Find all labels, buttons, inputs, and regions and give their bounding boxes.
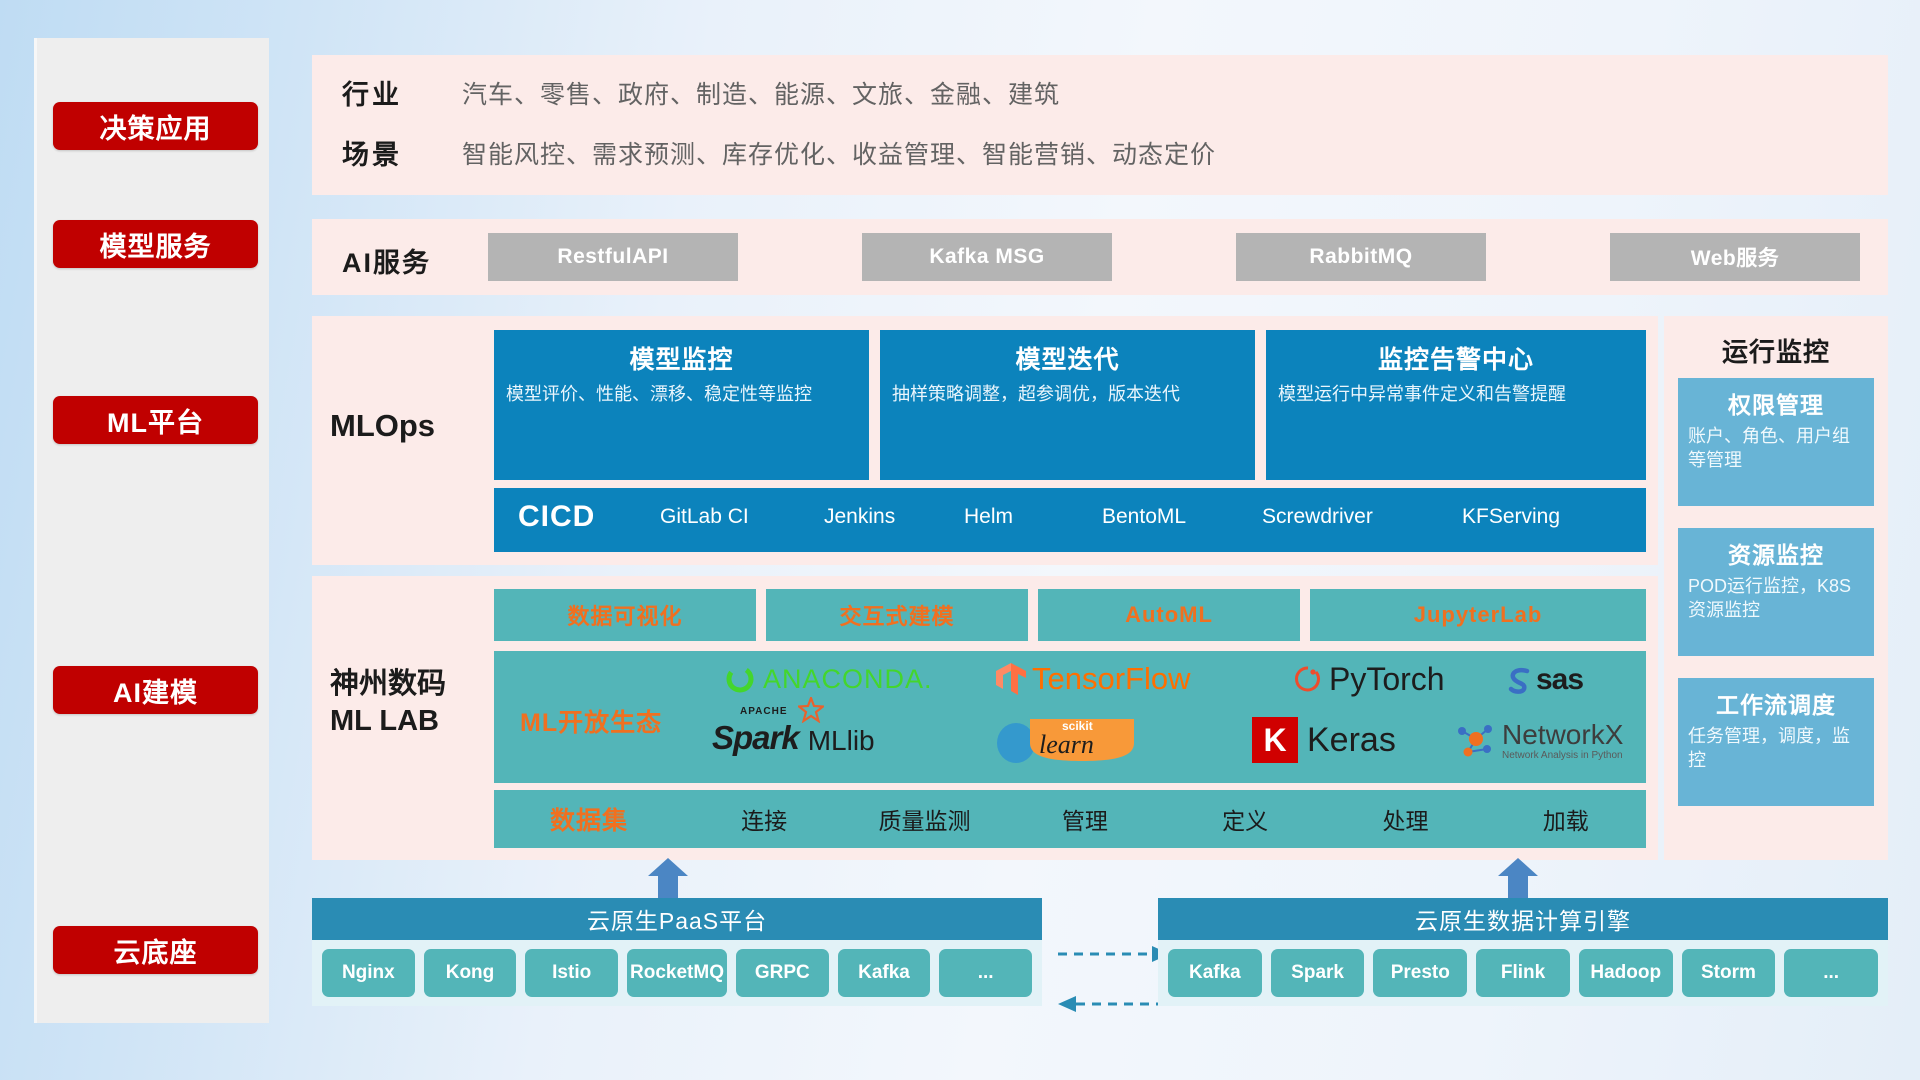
mllab-tab-label: JupyterLab: [1414, 602, 1543, 628]
spark-star-icon: [798, 697, 824, 723]
mllab-tab-interactive-modeling[interactable]: 交互式建模: [766, 589, 1028, 641]
chip-kafka[interactable]: Kafka: [1168, 949, 1262, 997]
mllab-tab-label: AutoML: [1125, 602, 1213, 628]
chip-hadoop[interactable]: Hadoop: [1579, 949, 1673, 997]
ml-ecosystem-bar: ML开放生态 ANACONDA. TensorFlow PyTorch: [494, 651, 1646, 783]
chip-rocketmq[interactable]: RocketMQ: [627, 949, 727, 997]
sidebar-item-ai-modeling[interactable]: AI建模: [53, 666, 258, 714]
monitor-card-title: 工作流调度: [1688, 686, 1864, 720]
cloud-paas-block: 云原生PaaS平台 Nginx Kong Istio RocketMQ GRPC…: [312, 898, 1042, 1006]
cloud-paas-chips: Nginx Kong Istio RocketMQ GRPC Kafka ...: [312, 940, 1042, 1006]
ai-service-item-label: RabbitMQ: [1309, 245, 1412, 269]
ai-service-item-kafka-msg[interactable]: Kafka MSG: [862, 233, 1112, 281]
industry-scenario-panel: 行业 汽车、零售、政府、制造、能源、文旅、金融、建筑 场景 智能风控、需求预测、…: [312, 55, 1888, 195]
chip-nginx[interactable]: Nginx: [322, 949, 415, 997]
ml-lab-label-line2: ML LAB: [330, 703, 446, 740]
runtime-monitoring-title: 运行监控: [1664, 332, 1888, 369]
cicd-item-helm[interactable]: Helm: [964, 504, 1082, 530]
mlops-card-title: 模型监控: [506, 340, 857, 376]
dataset-item-manage[interactable]: 管理: [1005, 802, 1165, 836]
keras-k-label: K: [1263, 722, 1286, 759]
mllab-tab-automl[interactable]: AutoML: [1038, 589, 1300, 641]
bidirectional-dashed-arrows-icon: [1056, 938, 1172, 1022]
sidebar-item-cloud-base[interactable]: 云底座: [53, 926, 258, 974]
ai-service-item-label: Kafka MSG: [929, 245, 1044, 269]
mllab-tab-jupyterlab[interactable]: JupyterLab: [1310, 589, 1646, 641]
monitor-card-title: 权限管理: [1688, 386, 1864, 420]
cicd-item-jenkins[interactable]: Jenkins: [824, 504, 942, 530]
networkx-icon: [1454, 721, 1496, 761]
monitor-card-resource[interactable]: 资源监控 POD运行监控，K8S资源监控: [1678, 528, 1874, 656]
mlops-card-model-iteration[interactable]: 模型迭代 抽样策略调整，超参调优，版本迭代: [880, 330, 1255, 480]
anaconda-icon: [724, 663, 756, 695]
ml-ecosystem-label: ML开放生态: [520, 703, 662, 739]
logo-pytorch: PyTorch: [1294, 661, 1445, 698]
scenario-key: 场景: [342, 133, 462, 172]
networkx-label: NetworkX: [1502, 721, 1623, 749]
mlops-card-desc: 抽样策略调整，超参调优，版本迭代: [892, 382, 1243, 406]
sidebar-item-label: 模型服务: [100, 225, 212, 264]
chip-kong[interactable]: Kong: [424, 949, 517, 997]
ai-service-label: AI服务: [342, 241, 431, 280]
chip-grpc[interactable]: GRPC: [736, 949, 829, 997]
sidebar-item-label: 云底座: [114, 931, 198, 970]
mlops-card-model-monitoring[interactable]: 模型监控 模型评价、性能、漂移、稳定性等监控: [494, 330, 869, 480]
logo-tensorflow: TensorFlow: [994, 661, 1191, 697]
sidebar-item-decision-app[interactable]: 决策应用: [53, 102, 258, 150]
chip-presto[interactable]: Presto: [1373, 949, 1467, 997]
logo-keras: K Keras: [1252, 717, 1396, 763]
mlops-card-desc: 模型评价、性能、漂移、稳定性等监控: [506, 382, 857, 406]
cicd-item-bentoml[interactable]: BentoML: [1102, 504, 1220, 530]
dataset-item-load[interactable]: 加载: [1486, 802, 1646, 836]
cloud-data-engine-chips: Kafka Spark Presto Flink Hadoop Storm ..…: [1158, 940, 1888, 1006]
cloud-paas-title: 云原生PaaS平台: [312, 898, 1042, 940]
sas-icon: [1504, 665, 1534, 695]
cicd-title: CICD: [518, 500, 595, 534]
ml-lab-section-label: 神州数码 ML LAB: [330, 666, 446, 740]
sidebar-item-ml-platform[interactable]: ML平台: [53, 396, 258, 444]
runtime-monitoring-panel: 运行监控 权限管理 账户、角色、用户组等管理 资源监控 POD运行监控，K8S资…: [1664, 316, 1888, 860]
cicd-item-kfserving[interactable]: KFServing: [1462, 504, 1580, 530]
logo-spark-mllib: APACHE Spark MLlib: [712, 719, 875, 757]
cloud-data-engine-block: 云原生数据计算引擎 Kafka Spark Presto Flink Hadoo…: [1158, 898, 1888, 1006]
mllab-tab-data-visualization[interactable]: 数据可视化: [494, 589, 756, 641]
monitor-card-desc: 任务管理，调度，监控: [1688, 725, 1864, 773]
dataset-item-process[interactable]: 处理: [1325, 802, 1485, 836]
ai-service-item-label: RestfulAPI: [557, 245, 668, 269]
pytorch-label: PyTorch: [1329, 661, 1445, 698]
spark-apache-label: APACHE: [740, 706, 787, 717]
sas-label: sas: [1536, 663, 1583, 697]
chip-storm[interactable]: Storm: [1682, 949, 1776, 997]
mllab-tab-label: 数据可视化: [567, 599, 682, 631]
ml-lab-label-line1: 神州数码: [330, 666, 446, 703]
spark-label: Spark: [712, 719, 799, 756]
mllib-label: MLlib: [808, 725, 875, 757]
logo-anaconda: ANACONDA.: [724, 663, 933, 695]
industry-row: 行业 汽车、零售、政府、制造、能源、文旅、金融、建筑: [342, 73, 1060, 112]
logo-sas: sas: [1504, 663, 1583, 697]
chip-more[interactable]: ...: [939, 949, 1032, 997]
dataset-title: 数据集: [494, 801, 684, 837]
ai-service-panel: AI服务 RestfulAPI Kafka MSG RabbitMQ Web服务: [312, 219, 1888, 295]
up-arrow-data-engine-icon: [1498, 858, 1538, 900]
mlops-card-title: 模型迭代: [892, 340, 1243, 376]
networkx-sublabel: Network Analysis in Python: [1502, 751, 1623, 761]
sidebar-item-label: ML平台: [107, 401, 204, 440]
keras-icon: K: [1252, 717, 1298, 763]
scenario-value: 智能风控、需求预测、库存优化、收益管理、智能营销、动态定价: [462, 135, 1216, 171]
chip-flink[interactable]: Flink: [1476, 949, 1570, 997]
monitor-card-permission[interactable]: 权限管理 账户、角色、用户组等管理: [1678, 378, 1874, 506]
dataset-item-quality[interactable]: 质量监测: [844, 802, 1004, 836]
chip-more[interactable]: ...: [1784, 949, 1878, 997]
up-arrow-paas-icon: [648, 858, 688, 900]
chip-kafka[interactable]: Kafka: [838, 949, 931, 997]
scenario-row: 场景 智能风控、需求预测、库存优化、收益管理、智能营销、动态定价: [342, 133, 1216, 172]
logo-scikit-learn: scikit learn: [994, 717, 1138, 768]
monitor-card-workflow[interactable]: 工作流调度 任务管理，调度，监控: [1678, 678, 1874, 806]
tensorflow-icon: [994, 661, 1028, 697]
mlops-card-alert-center[interactable]: 监控告警中心 模型运行中异常事件定义和告警提醒: [1266, 330, 1646, 480]
logo-networkx: NetworkX Network Analysis in Python: [1454, 721, 1623, 761]
anaconda-label: ANACONDA.: [763, 664, 933, 695]
monitor-card-title: 资源监控: [1688, 536, 1864, 570]
pytorch-icon: [1294, 664, 1322, 696]
ml-lab-panel: 数据可视化 交互式建模 AutoML JupyterLab ML开放生态 ANA…: [312, 576, 1658, 860]
ai-service-item-label: Web服务: [1691, 242, 1779, 272]
cloud-data-engine-title: 云原生数据计算引擎: [1158, 898, 1888, 940]
monitor-card-desc: POD运行监控，K8S资源监控: [1688, 575, 1864, 623]
mllab-tab-label: 交互式建模: [839, 599, 954, 631]
mlops-section-label: MLOps: [330, 408, 435, 444]
dataset-bar: 数据集 连接 质量监测 管理 定义 处理 加载: [494, 790, 1646, 848]
cicd-item-gitlab-ci[interactable]: GitLab CI: [660, 504, 778, 530]
dataset-item-connect[interactable]: 连接: [684, 802, 844, 836]
ai-service-item-web-service[interactable]: Web服务: [1610, 233, 1860, 281]
sidebar-item-model-service[interactable]: 模型服务: [53, 220, 258, 268]
layer-rail: 决策应用 模型服务 ML平台 AI建模 云底座: [34, 38, 269, 1023]
mlops-card-desc: 模型运行中异常事件定义和告警提醒: [1278, 382, 1634, 406]
dataset-item-define[interactable]: 定义: [1165, 802, 1325, 836]
learn-label: learn: [1039, 730, 1094, 760]
sidebar-item-label: AI建模: [113, 671, 198, 710]
ai-service-item-restfulapi[interactable]: RestfulAPI: [488, 233, 738, 281]
mlops-card-title: 监控告警中心: [1278, 340, 1634, 376]
industry-value: 汽车、零售、政府、制造、能源、文旅、金融、建筑: [462, 75, 1060, 111]
keras-label: Keras: [1307, 721, 1396, 760]
tensorflow-label: TensorFlow: [1032, 661, 1191, 697]
chip-spark[interactable]: Spark: [1271, 949, 1365, 997]
industry-key: 行业: [342, 73, 462, 112]
cicd-item-screwdriver[interactable]: Screwdriver: [1262, 504, 1380, 530]
sidebar-item-label: 决策应用: [100, 107, 212, 146]
ai-service-item-rabbitmq[interactable]: RabbitMQ: [1236, 233, 1486, 281]
mlops-panel: 模型监控 模型评价、性能、漂移、稳定性等监控 模型迭代 抽样策略调整，超参调优，…: [312, 316, 1658, 565]
monitor-card-desc: 账户、角色、用户组等管理: [1688, 425, 1864, 473]
chip-istio[interactable]: Istio: [525, 949, 618, 997]
cicd-bar: CICD GitLab CI Jenkins Helm BentoML Scre…: [494, 488, 1646, 552]
